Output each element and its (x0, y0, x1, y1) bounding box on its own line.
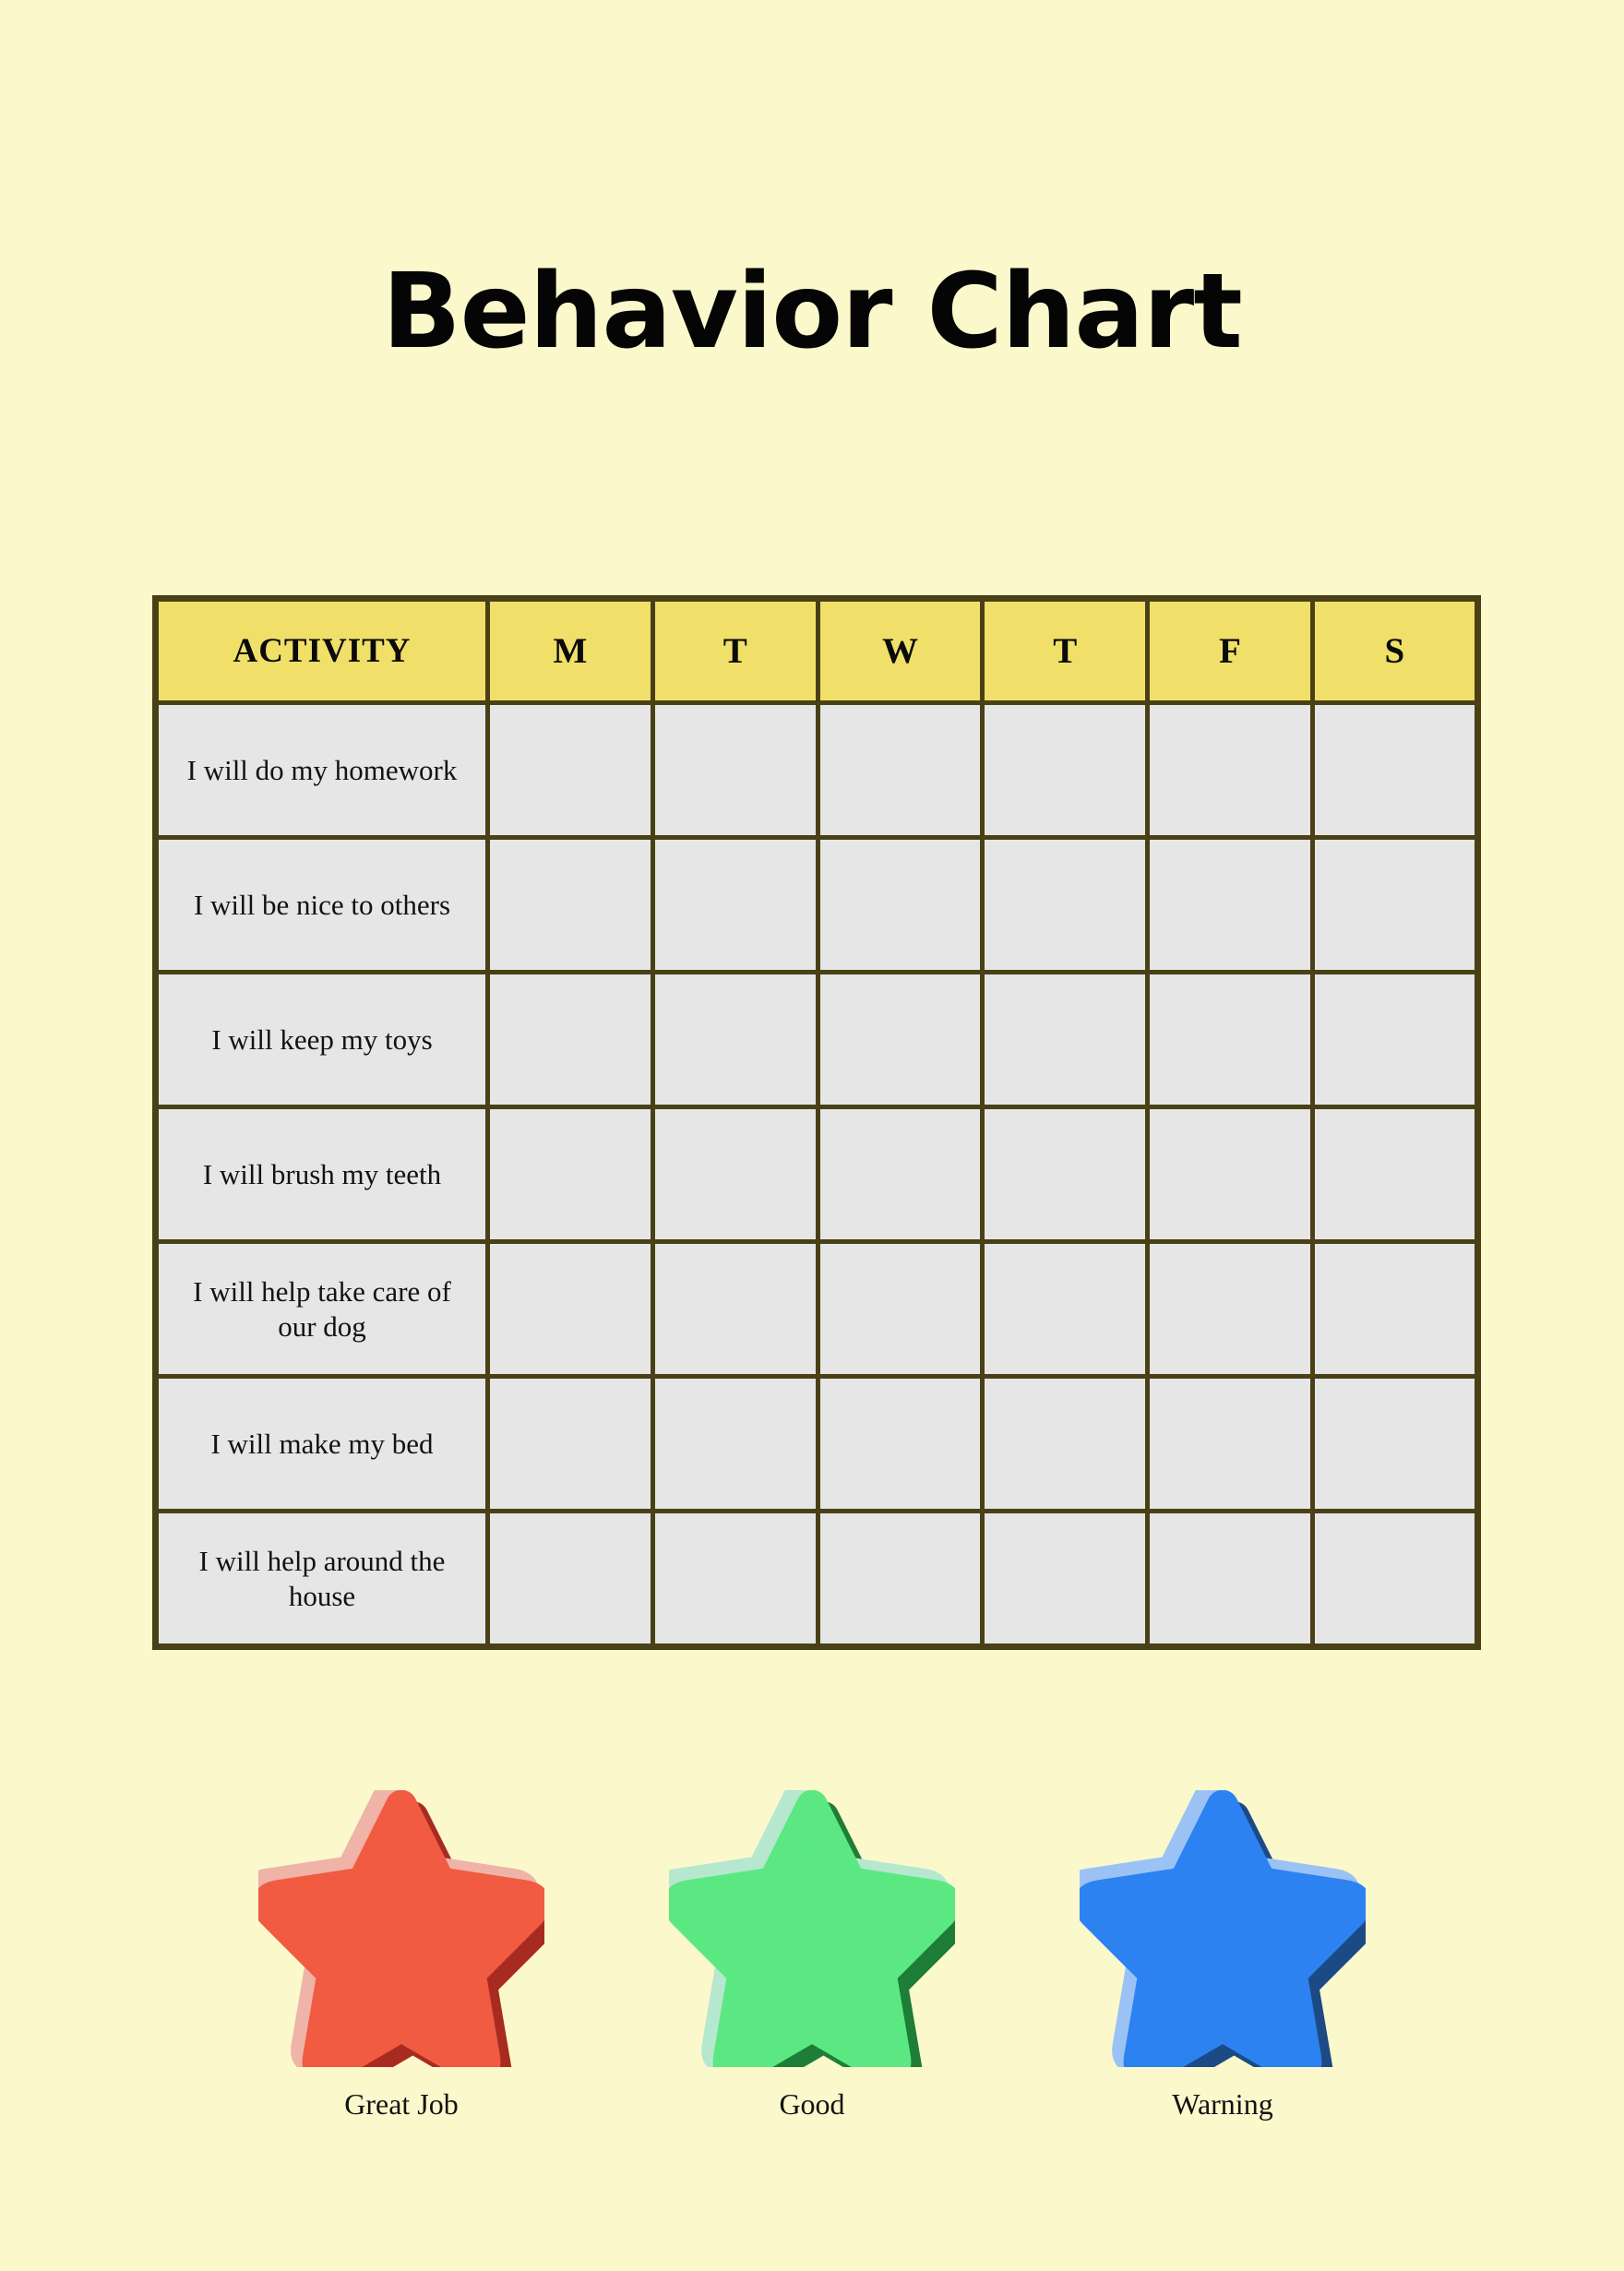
mark-cell-friday[interactable] (1148, 973, 1313, 1107)
star-main-layer (679, 1806, 946, 2067)
legend-label: Good (779, 2087, 844, 2122)
mark-cell-friday[interactable] (1148, 1512, 1313, 1647)
mark-cell-tuesday[interactable] (652, 703, 818, 838)
activity-label: I will make my bed (156, 1377, 488, 1512)
mark-cell-tuesday[interactable] (652, 1377, 818, 1512)
column-header-saturday: S (1312, 599, 1477, 703)
table-row: I will be nice to others (156, 838, 1478, 973)
mark-cell-monday[interactable] (488, 1512, 653, 1647)
mark-cell-saturday[interactable] (1312, 1377, 1477, 1512)
column-header-thursday: T (983, 599, 1148, 703)
mark-cell-saturday[interactable] (1312, 1512, 1477, 1647)
mark-cell-thursday[interactable] (983, 1107, 1148, 1242)
table-row: I will do my homework (156, 703, 1478, 838)
mark-cell-wednesday[interactable] (818, 973, 983, 1107)
mark-cell-wednesday[interactable] (818, 1107, 983, 1242)
mark-cell-wednesday[interactable] (818, 703, 983, 838)
mark-cell-saturday[interactable] (1312, 838, 1477, 973)
mark-cell-tuesday[interactable] (652, 1107, 818, 1242)
table-row: I will help around the house (156, 1512, 1478, 1647)
mark-cell-monday[interactable] (488, 838, 653, 973)
mark-cell-wednesday[interactable] (818, 1242, 983, 1377)
table-header-row: ACTIVITY M T W T F S (156, 599, 1478, 703)
behavior-chart-table: ACTIVITY M T W T F S I will do my homewo… (152, 595, 1481, 1650)
legend-label: Warning (1172, 2087, 1272, 2122)
star-main-layer (1090, 1806, 1356, 2067)
mark-cell-friday[interactable] (1148, 1107, 1313, 1242)
table-row: I will keep my toys (156, 973, 1478, 1107)
mark-cell-monday[interactable] (488, 1107, 653, 1242)
star-main-layer (269, 1806, 535, 2067)
legend-label: Great Job (344, 2087, 459, 2122)
table-row: I will make my bed (156, 1377, 1478, 1512)
star-icon (258, 1790, 544, 2067)
activity-label: I will keep my toys (156, 973, 488, 1107)
column-header-tuesday: T (652, 599, 818, 703)
mark-cell-tuesday[interactable] (652, 1242, 818, 1377)
mark-cell-monday[interactable] (488, 973, 653, 1107)
mark-cell-tuesday[interactable] (652, 1512, 818, 1647)
mark-cell-friday[interactable] (1148, 838, 1313, 973)
mark-cell-monday[interactable] (488, 703, 653, 838)
legend: Great Job Good Warning (0, 1790, 1624, 2122)
mark-cell-tuesday[interactable] (652, 838, 818, 973)
mark-cell-thursday[interactable] (983, 973, 1148, 1107)
table-row: I will brush my teeth (156, 1107, 1478, 1242)
column-header-monday: M (488, 599, 653, 703)
mark-cell-saturday[interactable] (1312, 703, 1477, 838)
mark-cell-thursday[interactable] (983, 838, 1148, 973)
star-icon (1080, 1790, 1366, 2067)
mark-cell-friday[interactable] (1148, 703, 1313, 838)
mark-cell-saturday[interactable] (1312, 1242, 1477, 1377)
column-header-activity: ACTIVITY (156, 599, 488, 703)
mark-cell-saturday[interactable] (1312, 1107, 1477, 1242)
table-row: I will help take care of our dog (156, 1242, 1478, 1377)
activity-label: I will brush my teeth (156, 1107, 488, 1242)
mark-cell-thursday[interactable] (983, 1242, 1148, 1377)
behavior-chart-table-wrapper: ACTIVITY M T W T F S I will do my homewo… (152, 595, 1475, 1650)
mark-cell-thursday[interactable] (983, 1512, 1148, 1647)
activity-label: I will help take care of our dog (156, 1242, 488, 1377)
mark-cell-thursday[interactable] (983, 703, 1148, 838)
table-header: ACTIVITY M T W T F S (156, 599, 1478, 703)
table-body: I will do my homework I will be nice to … (156, 703, 1478, 1647)
activity-label: I will be nice to others (156, 838, 488, 973)
star-icon (669, 1790, 955, 2067)
activity-label: I will help around the house (156, 1512, 488, 1647)
mark-cell-tuesday[interactable] (652, 973, 818, 1107)
column-header-wednesday: W (818, 599, 983, 703)
activity-label: I will do my homework (156, 703, 488, 838)
legend-item-warning[interactable]: Warning (1070, 1790, 1375, 2122)
legend-item-good[interactable]: Good (660, 1790, 964, 2122)
column-header-friday: F (1148, 599, 1313, 703)
mark-cell-wednesday[interactable] (818, 838, 983, 973)
mark-cell-monday[interactable] (488, 1242, 653, 1377)
legend-item-great-job[interactable]: Great Job (249, 1790, 554, 2122)
mark-cell-monday[interactable] (488, 1377, 653, 1512)
mark-cell-friday[interactable] (1148, 1377, 1313, 1512)
mark-cell-wednesday[interactable] (818, 1512, 983, 1647)
page-title: Behavior Chart (0, 260, 1624, 364)
mark-cell-friday[interactable] (1148, 1242, 1313, 1377)
mark-cell-wednesday[interactable] (818, 1377, 983, 1512)
mark-cell-thursday[interactable] (983, 1377, 1148, 1512)
mark-cell-saturday[interactable] (1312, 973, 1477, 1107)
